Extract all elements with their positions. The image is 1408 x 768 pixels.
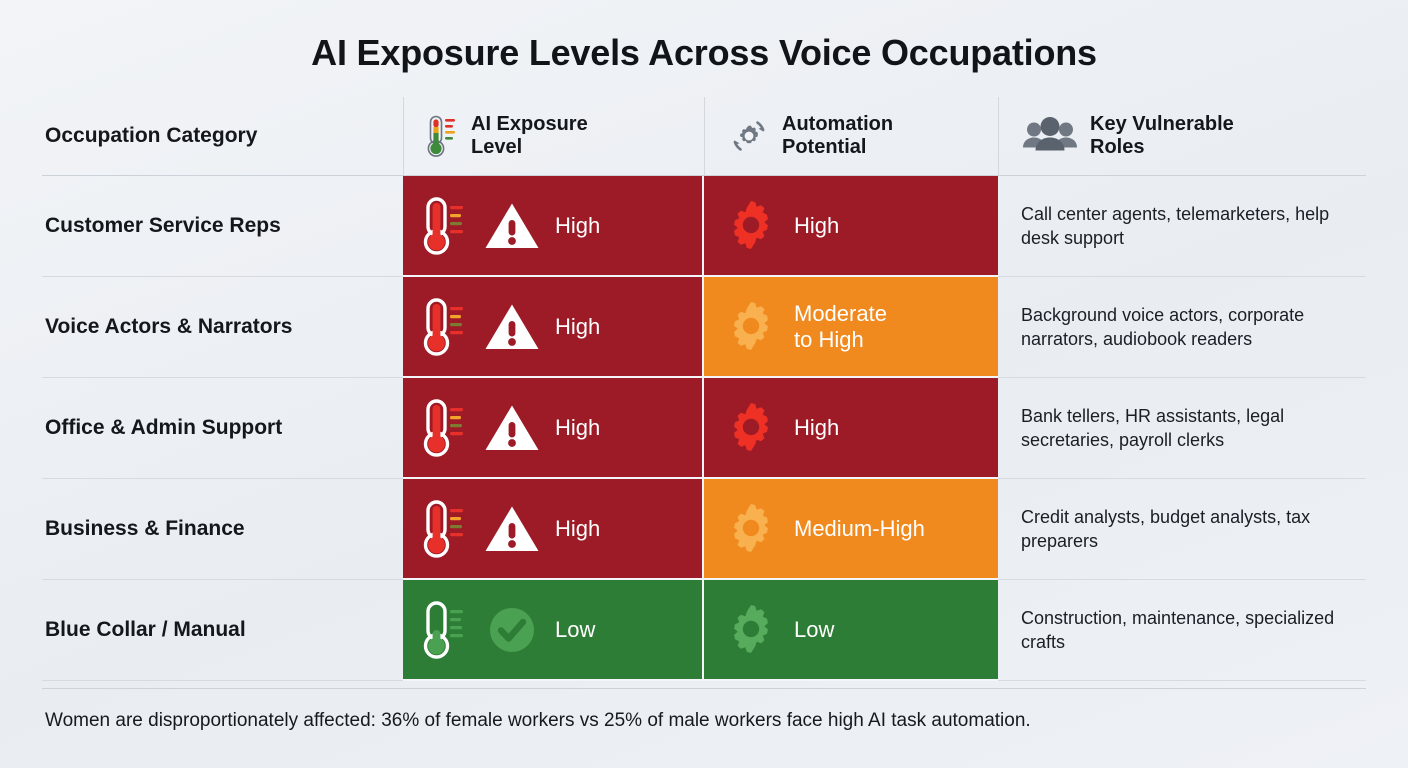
infographic-page: AI Exposure Levels Across Voice Occupati… bbox=[0, 0, 1408, 768]
automation-level-label: High bbox=[790, 213, 839, 239]
table-header-row: Occupation Category bbox=[42, 97, 1366, 176]
thermometer-low-icon bbox=[421, 599, 473, 661]
warning-triangle-icon bbox=[483, 503, 541, 555]
automation-chip-moderate: Moderateto High bbox=[704, 277, 998, 378]
cell-category: Voice Actors & Narrators bbox=[42, 277, 403, 378]
exposure-chip-high: High bbox=[403, 277, 704, 378]
cell-category: Office & Admin Support bbox=[42, 378, 403, 479]
category-label: Business & Finance bbox=[42, 516, 245, 541]
category-label: Voice Actors & Narrators bbox=[42, 314, 292, 339]
cell-automation: Medium-High bbox=[704, 479, 998, 580]
gear-icon bbox=[722, 298, 780, 356]
automation-level-label: Low bbox=[790, 617, 834, 643]
thermometer-full-icon bbox=[421, 195, 473, 257]
footnote: Women are disproportionately affected: 3… bbox=[45, 709, 1375, 734]
category-label: Blue Collar / Manual bbox=[42, 617, 246, 642]
table-row: Voice Actors & Narrators bbox=[42, 277, 1366, 378]
header-label-automation: Automation Potential bbox=[782, 113, 893, 160]
cell-roles: Credit analysts, budget analysts, tax pr… bbox=[998, 479, 1366, 580]
exposure-chip-high: High bbox=[403, 378, 704, 479]
table-row: Office & Admin Support bbox=[42, 378, 1366, 479]
cell-roles: Background voice actors, corporate narra… bbox=[998, 277, 1366, 378]
check-circle-icon bbox=[483, 602, 541, 658]
roles-text: Call center agents, telemarketers, help … bbox=[998, 202, 1366, 251]
exposure-level-label: High bbox=[551, 415, 600, 441]
header-cell-category: Occupation Category bbox=[42, 97, 403, 175]
cell-exposure: High bbox=[403, 479, 704, 580]
roles-text: Credit analysts, budget analysts, tax pr… bbox=[998, 505, 1366, 554]
cell-category: Blue Collar / Manual bbox=[42, 580, 403, 681]
thermometer-full-icon bbox=[421, 498, 473, 560]
header-cell-roles: Key Vulnerable Roles bbox=[998, 97, 1366, 175]
cell-exposure: High bbox=[403, 277, 704, 378]
people-group-icon bbox=[1021, 116, 1079, 156]
exposure-chip-low: Low bbox=[403, 580, 704, 681]
cell-category: Customer Service Reps bbox=[42, 176, 403, 277]
cell-roles: Call center agents, telemarketers, help … bbox=[998, 176, 1366, 277]
cell-automation: High bbox=[704, 378, 998, 479]
exposure-level-label: High bbox=[551, 314, 600, 340]
header-label-exposure: AI Exposure Level bbox=[471, 113, 588, 160]
cell-category: Business & Finance bbox=[42, 479, 403, 580]
header-label-roles: Key Vulnerable Roles bbox=[1090, 113, 1234, 160]
page-title: AI Exposure Levels Across Voice Occupati… bbox=[0, 0, 1408, 73]
table-row: Business & Finance bbox=[42, 479, 1366, 580]
thermometer-full-icon bbox=[421, 296, 473, 358]
cell-automation: Low bbox=[704, 580, 998, 681]
cell-exposure: High bbox=[403, 176, 704, 277]
category-label: Office & Admin Support bbox=[42, 415, 282, 440]
automation-chip-high: High bbox=[704, 176, 998, 277]
exposure-level-label: High bbox=[551, 516, 600, 542]
roles-text: Construction, maintenance, specialized c… bbox=[998, 606, 1366, 655]
warning-triangle-icon bbox=[483, 301, 541, 353]
automation-chip-moderate: Medium-High bbox=[704, 479, 998, 580]
roles-text: Bank tellers, HR assistants, legal secre… bbox=[998, 404, 1366, 453]
automation-level-label: Medium-High bbox=[790, 516, 925, 542]
gear-icon bbox=[722, 399, 780, 457]
table-row: Blue Collar / Manual bbox=[42, 580, 1366, 681]
automation-level-label: High bbox=[790, 415, 839, 441]
exposure-chip-high: High bbox=[403, 479, 704, 580]
automation-level-label: Moderateto High bbox=[790, 301, 887, 353]
cell-roles: Construction, maintenance, specialized c… bbox=[998, 580, 1366, 681]
table-row: Customer Service Reps bbox=[42, 176, 1366, 277]
header-cell-automation: Automation Potential bbox=[704, 97, 998, 175]
category-label: Customer Service Reps bbox=[42, 213, 281, 238]
cell-exposure: Low bbox=[403, 580, 704, 681]
warning-triangle-icon bbox=[483, 402, 541, 454]
exposure-table: Occupation Category bbox=[42, 97, 1366, 681]
thermometer-full-icon bbox=[421, 397, 473, 459]
cell-exposure: High bbox=[403, 378, 704, 479]
cell-automation: High bbox=[704, 176, 998, 277]
exposure-level-label: High bbox=[551, 213, 600, 239]
header-cell-exposure: AI Exposure Level bbox=[403, 97, 704, 175]
warning-triangle-icon bbox=[483, 200, 541, 252]
roles-text: Background voice actors, corporate narra… bbox=[998, 303, 1366, 352]
header-label-category: Occupation Category bbox=[42, 124, 257, 148]
cell-automation: Moderateto High bbox=[704, 277, 998, 378]
gear-icon bbox=[722, 601, 780, 659]
footer-divider bbox=[42, 688, 1366, 689]
thermometer-icon bbox=[426, 113, 460, 159]
exposure-chip-high: High bbox=[403, 176, 704, 277]
gear-icon bbox=[722, 197, 780, 255]
automation-chip-high: High bbox=[704, 378, 998, 479]
exposure-level-label: Low bbox=[551, 617, 595, 643]
gear-refresh-icon bbox=[727, 114, 771, 158]
gear-icon bbox=[722, 500, 780, 558]
cell-roles: Bank tellers, HR assistants, legal secre… bbox=[998, 378, 1366, 479]
automation-chip-low: Low bbox=[704, 580, 998, 681]
